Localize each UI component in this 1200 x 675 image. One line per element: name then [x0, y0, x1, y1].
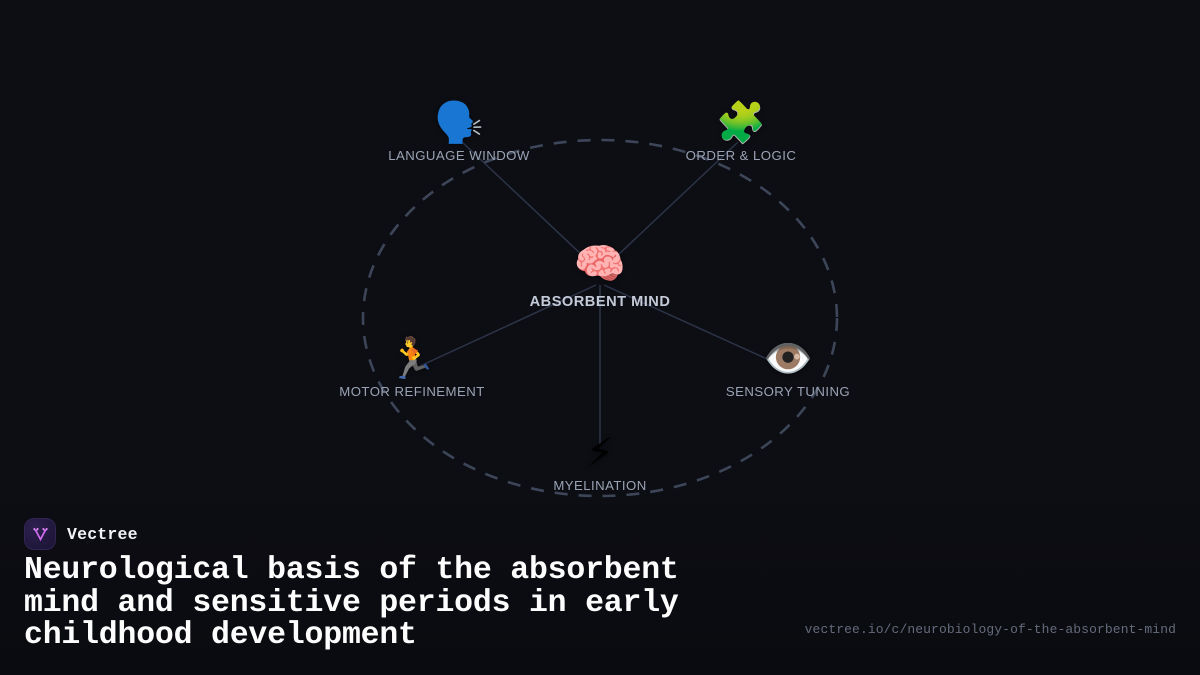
brand-row[interactable]: Vectree: [24, 518, 138, 550]
eye-icon: 👁️: [726, 336, 850, 382]
lightning-bolt-icon: ⚡: [553, 430, 646, 476]
node-order-and-logic[interactable]: 🧩 ORDER & LOGIC: [686, 100, 797, 163]
node-label-motor-refinement: MOTOR REFINEMENT: [339, 384, 484, 399]
page-title: Neurological basis of the absorbent mind…: [24, 555, 824, 653]
diagram-canvas: 🗣️ LANGUAGE WINDOW 🧩 ORDER & LOGIC 🧠 ABS…: [0, 0, 1200, 510]
node-language-window[interactable]: 🗣️ LANGUAGE WINDOW: [388, 100, 530, 163]
page-url[interactable]: vectree.io/c/neurobiology-of-the-absorbe…: [805, 622, 1176, 637]
page-title-line-1: Neurological basis of the absorbent: [24, 555, 824, 588]
page-title-line-3: childhood development: [24, 620, 824, 653]
brand-name: Vectree: [67, 525, 138, 544]
speaking-head-icon: 🗣️: [388, 100, 530, 146]
node-label-myelination: MYELINATION: [553, 478, 646, 493]
vectree-logo-icon: [24, 518, 56, 550]
node-absorbent-mind[interactable]: 🧠 ABSORBENT MIND: [530, 240, 671, 310]
node-motor-refinement[interactable]: 🏃 MOTOR REFINEMENT: [339, 336, 484, 399]
node-label-sensory-tuning: SENSORY TUNING: [726, 384, 850, 399]
node-sensory-tuning[interactable]: 👁️ SENSORY TUNING: [726, 336, 850, 399]
running-person-icon: 🏃: [339, 336, 484, 382]
node-label-absorbent-mind: ABSORBENT MIND: [530, 294, 671, 310]
node-label-order-and-logic: ORDER & LOGIC: [686, 148, 797, 163]
footer-panel: Vectree Neurological basis of the absorb…: [0, 505, 1200, 675]
page-title-line-2: mind and sensitive periods in early: [24, 588, 824, 621]
node-label-language-window: LANGUAGE WINDOW: [388, 148, 530, 163]
node-myelination[interactable]: ⚡ MYELINATION: [553, 430, 646, 493]
puzzle-piece-icon: 🧩: [686, 100, 797, 146]
brain-icon: 🧠: [530, 240, 671, 288]
